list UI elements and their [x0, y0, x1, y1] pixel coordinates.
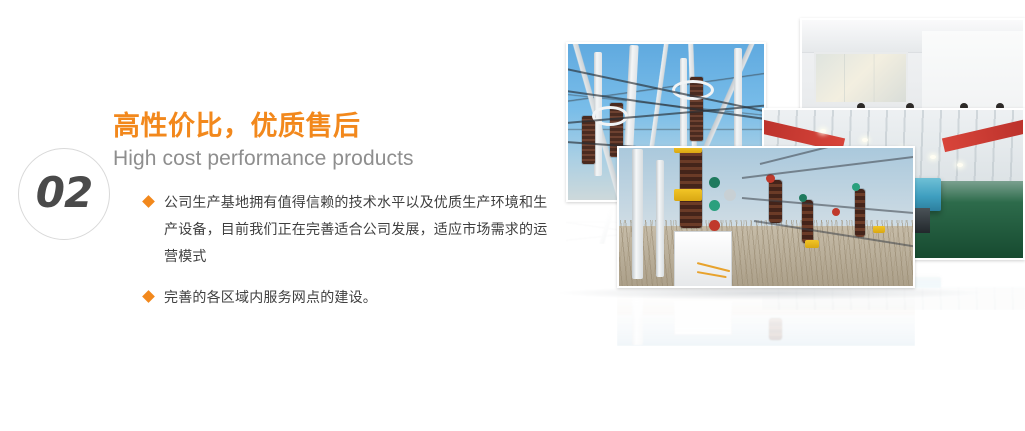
- heading-english: High cost performance products: [113, 145, 543, 172]
- heading-block: 高性价比，优质售后 High cost performance products: [113, 110, 543, 172]
- switchgear-photo: [617, 146, 915, 288]
- list-item-text: 公司生产基地拥有值得信赖的技术水平以及优质生产环境和生产设备，目前我们正在完善适…: [164, 195, 547, 265]
- list-item: 完善的各区域内服务网点的建设。: [144, 285, 554, 312]
- list-item-text: 完善的各区域内服务网点的建设。: [164, 290, 377, 306]
- photo-collage: [540, 0, 1025, 345]
- diamond-bullet-icon: [142, 290, 155, 303]
- list-item: 公司生产基地拥有值得信赖的技术水平以及优质生产环境和生产设备，目前我们正在完善适…: [144, 190, 554, 271]
- heading-chinese: 高性价比，优质售后: [113, 110, 543, 144]
- switchgear-scene: [617, 146, 915, 288]
- promo-banner: 02 高性价比，优质售后 High cost performance produ…: [0, 0, 1025, 431]
- diamond-bullet-icon: [142, 195, 155, 208]
- step-number-badge: 02: [18, 148, 110, 240]
- step-number-label: 02: [36, 172, 92, 214]
- feature-bullet-list: 公司生产基地拥有值得信赖的技术水平以及优质生产环境和生产设备，目前我们正在完善适…: [144, 190, 554, 312]
